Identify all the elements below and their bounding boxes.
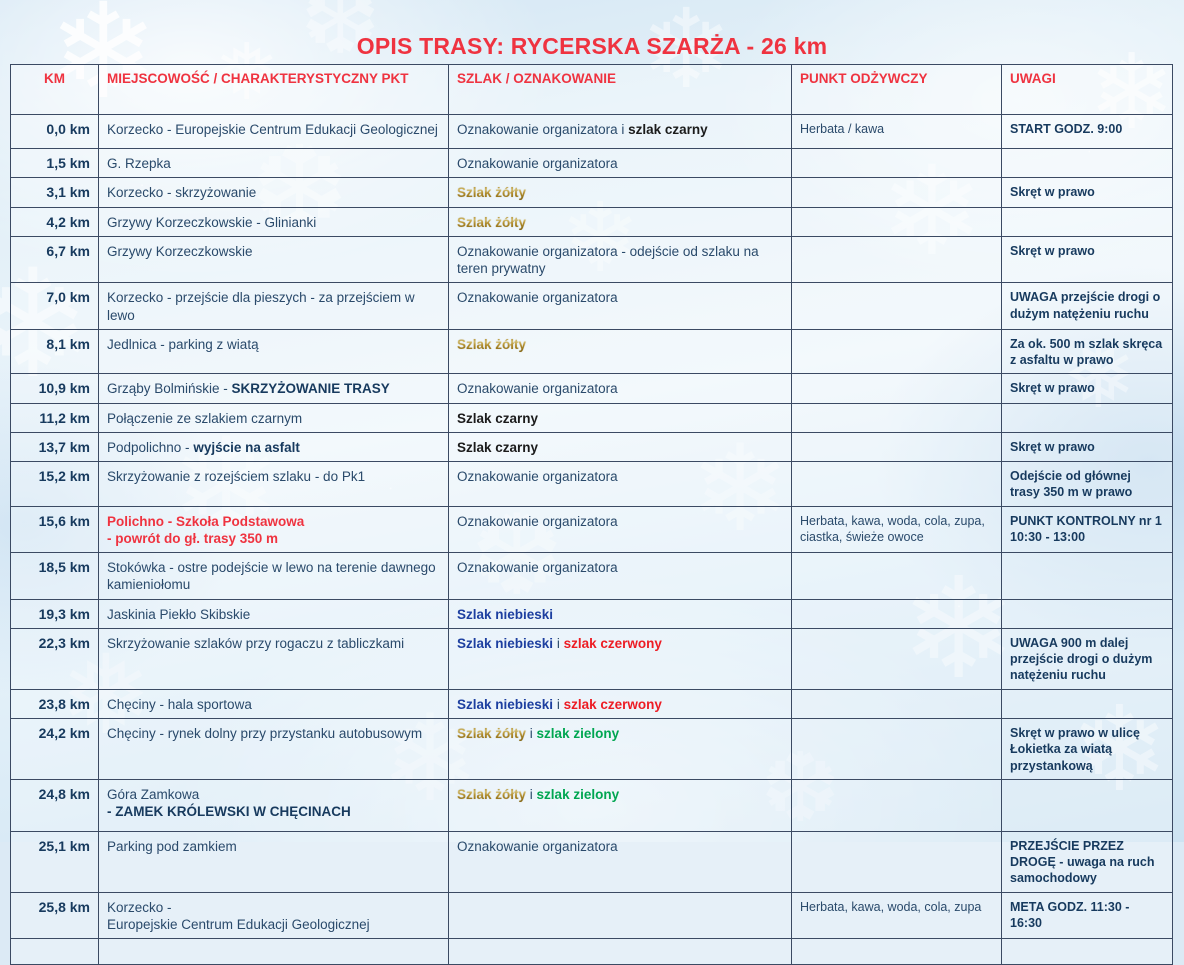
cell-trail: Szlak niebieski i szlak czerwony [449, 628, 792, 689]
cell-food-point [792, 779, 1002, 831]
place-highlight-2: - powrót do gł. trasy 350 m [107, 531, 278, 546]
cell-food-point [792, 329, 1002, 374]
cell-notes [1002, 599, 1173, 628]
cell-food-point [792, 462, 1002, 507]
cell-food-point [792, 599, 1002, 628]
cell-km: 4,2 km [11, 207, 99, 236]
route-description-table: KM MIEJSCOWOŚĆ / CHARAKTERYSTYCZNY PKT S… [10, 64, 1172, 965]
table-row: 10,9 kmGrząby Bolmińskie - SKRZYŻOWANIE … [11, 374, 1173, 403]
cell-place: Jaskinia Piekło Skibskie [99, 599, 449, 628]
cell-trail: Oznakowanie organizatora - odejście od s… [449, 236, 792, 283]
cell-trail: Oznakowanie organizatora [449, 506, 792, 553]
cell-food-point [792, 939, 1002, 965]
cell-place: Jedlnica - parking z wiatą [99, 329, 449, 374]
cell-place: Korzecko - przejście dla pieszych - za p… [99, 283, 449, 330]
cell-place: Polichno - Szkoła Podstawowa- powrót do … [99, 506, 449, 553]
cell-trail: Szlak czarny [449, 403, 792, 432]
trail-green-label: szlak zielony [537, 787, 620, 802]
cell-trail: Szlak żółty [449, 178, 792, 207]
cell-km: 24,8 km [11, 779, 99, 831]
trail-yellow-label: Szlak żółty [457, 337, 526, 352]
table-row: 6,7 kmGrzywy KorzeczkowskieOznakowanie o… [11, 236, 1173, 283]
trail-conjunction: i [553, 697, 564, 712]
cell-notes: UWAGA 900 m dalej przejście drogi o duży… [1002, 628, 1173, 689]
column-header-notes: UWAGI [1002, 65, 1173, 115]
table-row: 7,0 kmKorzecko - przejście dla pieszych … [11, 283, 1173, 330]
cell-food-point [792, 403, 1002, 432]
trail-marking-text: Oznakowanie organizatora i [457, 122, 628, 137]
column-header-food: PUNKT ODŻYWCZY [792, 65, 1002, 115]
cell-trail: Oznakowanie organizatora [449, 462, 792, 507]
cell-km [11, 939, 99, 965]
cell-notes: Skręt w prawo w ulicę Łokietka za wiatą … [1002, 719, 1173, 780]
table-row: 25,8 kmKorzecko -Europejskie Centrum Edu… [11, 892, 1173, 939]
cell-km: 15,6 km [11, 506, 99, 553]
place-text-2: Europejskie Centrum Edukacji Geologiczne… [107, 917, 370, 932]
cell-notes [1002, 207, 1173, 236]
trail-yellow-label: Szlak żółty [457, 185, 526, 200]
cell-food-point [792, 831, 1002, 892]
cell-food-point [792, 719, 1002, 780]
cell-notes: PUNKT KONTROLNY nr 1 10:30 - 13:00 [1002, 506, 1173, 553]
cell-place: Połączenie ze szlakiem czarnym [99, 403, 449, 432]
cell-place: Góra Zamkowa- ZAMEK KRÓLEWSKI W CHĘCINAC… [99, 779, 449, 831]
column-header-km: KM [11, 65, 99, 115]
cell-notes: Skręt w prawo [1002, 432, 1173, 461]
cell-notes: Za ok. 500 m szlak skręca z asfaltu w pr… [1002, 329, 1173, 374]
cell-trail: Oznakowanie organizatora i szlak czarny [449, 115, 792, 149]
table-row: 24,2 kmChęciny - rynek dolny przy przyst… [11, 719, 1173, 780]
cell-place: Korzecko -Europejskie Centrum Edukacji G… [99, 892, 449, 939]
table-row: 15,2 kmSkrzyżowanie z rozejściem szlaku … [11, 462, 1173, 507]
trail-conjunction: i [526, 726, 537, 741]
cell-food-point [792, 689, 1002, 718]
cell-notes [1002, 689, 1173, 718]
trail-green-label: szlak zielony [537, 726, 620, 741]
trail-marking-text: Oznakowanie organizatora [457, 290, 618, 305]
cell-km: 7,0 km [11, 283, 99, 330]
cell-notes: Skręt w prawo [1002, 236, 1173, 283]
cell-trail: Szlak niebieski [449, 599, 792, 628]
table-row: 8,1 kmJedlnica - parking z wiatąSzlak żó… [11, 329, 1173, 374]
cell-km: 24,2 km [11, 719, 99, 780]
cell-notes: META GODZ. 11:30 - 16:30 [1002, 892, 1173, 939]
cell-food-point [792, 628, 1002, 689]
cell-km: 11,2 km [11, 403, 99, 432]
place-text: Grząby Bolmińskie - [107, 381, 232, 396]
trail-black-label: Szlak czarny [457, 411, 538, 426]
cell-place: G. Rzepka [99, 149, 449, 178]
cell-km: 0,0 km [11, 115, 99, 149]
place-text: Góra Zamkowa [107, 787, 199, 802]
cell-km: 8,1 km [11, 329, 99, 374]
cell-km: 13,7 km [11, 432, 99, 461]
cell-place: Stokówka - ostre podejście w lewo na ter… [99, 553, 449, 600]
cell-notes [1002, 149, 1173, 178]
column-header-place: MIEJSCOWOŚĆ / CHARAKTERYSTYCZNY PKT [99, 65, 449, 115]
trail-marking-text: Oznakowanie organizatora - odejście od s… [457, 244, 759, 276]
cell-trail: Oznakowanie organizatora [449, 149, 792, 178]
cell-food-point [792, 374, 1002, 403]
place-highlight: Polichno - Szkoła Podstawowa [107, 514, 304, 529]
cell-trail: Szlak żółty i szlak zielony [449, 719, 792, 780]
cell-trail: Szlak czarny [449, 432, 792, 461]
cell-food-point [792, 283, 1002, 330]
table-row: 15,6 kmPolichno - Szkoła Podstawowa- pow… [11, 506, 1173, 553]
cell-place: Skrzyżowanie szlaków przy rogaczu z tabl… [99, 628, 449, 689]
cell-food-point [792, 432, 1002, 461]
cell-trail: Oznakowanie organizatora [449, 831, 792, 892]
cell-place: Grzywy Korzeczkowskie - Glinianki [99, 207, 449, 236]
table-row: 19,3 kmJaskinia Piekło SkibskieSzlak nie… [11, 599, 1173, 628]
table-row: 4,2 kmGrzywy Korzeczkowskie - GliniankiS… [11, 207, 1173, 236]
cell-notes: START GODZ. 9:00 [1002, 115, 1173, 149]
trail-marking-text: Oznakowanie organizatora [457, 156, 618, 171]
cell-place: Korzecko - Europejskie Centrum Edukacji … [99, 115, 449, 149]
table-row: 22,3 kmSkrzyżowanie szlaków przy rogaczu… [11, 628, 1173, 689]
cell-place: Podpolichno - wyjście na asfalt [99, 432, 449, 461]
cell-notes [1002, 939, 1173, 965]
table-row: 11,2 kmPołączenie ze szlakiem czarnymSzl… [11, 403, 1173, 432]
cell-notes: UWAGA przejście drogi o dużym natężeniu … [1002, 283, 1173, 330]
cell-place: Grząby Bolmińskie - SKRZYŻOWANIE TRASY [99, 374, 449, 403]
cell-notes [1002, 553, 1173, 600]
trail-black-label: szlak czarny [628, 122, 708, 137]
table-row: 1,5 kmG. RzepkaOznakowanie organizatora [11, 149, 1173, 178]
cell-trail: Szlak żółty [449, 329, 792, 374]
table-row: 23,8 kmChęciny - hala sportowaSzlak nieb… [11, 689, 1173, 718]
cell-km: 22,3 km [11, 628, 99, 689]
cell-km: 18,5 km [11, 553, 99, 600]
table-row [11, 939, 1173, 965]
cell-place: Grzywy Korzeczkowskie [99, 236, 449, 283]
cell-place: Parking pod zamkiem [99, 831, 449, 892]
place-emphasis: wyjście na asfalt [193, 440, 300, 455]
cell-place: Korzecko - skrzyżowanie [99, 178, 449, 207]
cell-notes [1002, 779, 1173, 831]
column-header-trail: SZLAK / OZNAKOWANIE [449, 65, 792, 115]
cell-km: 10,9 km [11, 374, 99, 403]
trail-yellow-label: Szlak żółty [457, 726, 526, 741]
table-row: 0,0 kmKorzecko - Europejskie Centrum Edu… [11, 115, 1173, 149]
cell-trail: Szlak żółty [449, 207, 792, 236]
table-row: 3,1 kmKorzecko - skrzyżowanieSzlak żółty… [11, 178, 1173, 207]
cell-place: Chęciny - rynek dolny przy przystanku au… [99, 719, 449, 780]
place-emphasis: - ZAMEK KRÓLEWSKI W CHĘCINACH [107, 804, 351, 819]
cell-trail: Szlak żółty i szlak zielony [449, 779, 792, 831]
cell-km: 6,7 km [11, 236, 99, 283]
cell-km: 23,8 km [11, 689, 99, 718]
cell-km: 15,2 km [11, 462, 99, 507]
trail-red-label: szlak czerwony [564, 697, 662, 712]
table-header-row: KM MIEJSCOWOŚĆ / CHARAKTERYSTYCZNY PKT S… [11, 65, 1173, 115]
table-row: 24,8 kmGóra Zamkowa- ZAMEK KRÓLEWSKI W C… [11, 779, 1173, 831]
place-emphasis: SKRZYŻOWANIE TRASY [232, 381, 390, 396]
trail-conjunction: i [553, 636, 564, 651]
cell-place: Skrzyżowanie z rozejściem szlaku - do Pk… [99, 462, 449, 507]
trail-yellow-label: Szlak żółty [457, 215, 526, 230]
trail-marking-text: Oznakowanie organizatora [457, 839, 618, 854]
cell-km: 3,1 km [11, 178, 99, 207]
cell-notes [1002, 403, 1173, 432]
table-row: 25,1 kmParking pod zamkiemOznakowanie or… [11, 831, 1173, 892]
cell-notes: Odejście od głównej trasy 350 m w prawo [1002, 462, 1173, 507]
trail-red-label: szlak czerwony [564, 636, 662, 651]
cell-trail: Oznakowanie organizatora [449, 553, 792, 600]
trail-marking-text: Oznakowanie organizatora [457, 381, 618, 396]
cell-notes: Skręt w prawo [1002, 374, 1173, 403]
cell-km: 25,1 km [11, 831, 99, 892]
place-text: Korzecko - [107, 900, 172, 915]
table-row: 13,7 kmPodpolichno - wyjście na asfaltSz… [11, 432, 1173, 461]
cell-food-point [792, 178, 1002, 207]
trail-blue-label: Szlak niebieski [457, 636, 553, 651]
cell-km: 25,8 km [11, 892, 99, 939]
trail-blue-label: Szlak niebieski [457, 607, 553, 622]
trail-blue-label: Szlak niebieski [457, 697, 553, 712]
cell-food-point [792, 553, 1002, 600]
trail-marking-text: Oznakowanie organizatora [457, 514, 618, 529]
cell-food-point [792, 149, 1002, 178]
place-text: Podpolichno - [107, 440, 193, 455]
trail-black-label: Szlak czarny [457, 440, 538, 455]
trail-marking-text: Oznakowanie organizatora [457, 469, 618, 484]
cell-food-point: Herbata, kawa, woda, cola, zupa, ciastka… [792, 506, 1002, 553]
cell-notes: PRZEJŚCIE PRZEZ DROGĘ - uwaga na ruch sa… [1002, 831, 1173, 892]
trail-yellow-label: Szlak żółty [457, 787, 526, 802]
cell-trail [449, 939, 792, 965]
trail-conjunction: i [526, 787, 537, 802]
cell-place [99, 939, 449, 965]
cell-trail: Oznakowanie organizatora [449, 283, 792, 330]
cell-food-point: Herbata, kawa, woda, cola, zupa [792, 892, 1002, 939]
cell-notes: Skręt w prawo [1002, 178, 1173, 207]
cell-food-point [792, 236, 1002, 283]
cell-trail: Szlak niebieski i szlak czerwony [449, 689, 792, 718]
table-row: 18,5 kmStokówka - ostre podejście w lewo… [11, 553, 1173, 600]
cell-trail [449, 892, 792, 939]
cell-trail: Oznakowanie organizatora [449, 374, 792, 403]
trail-marking-text: Oznakowanie organizatora [457, 560, 618, 575]
cell-km: 19,3 km [11, 599, 99, 628]
cell-food-point: Herbata / kawa [792, 115, 1002, 149]
cell-km: 1,5 km [11, 149, 99, 178]
cell-food-point [792, 207, 1002, 236]
cell-place: Chęciny - hala sportowa [99, 689, 449, 718]
page-title: OPIS TRASY: RYCERSKA SZARŻA - 26 km [0, 33, 1184, 60]
